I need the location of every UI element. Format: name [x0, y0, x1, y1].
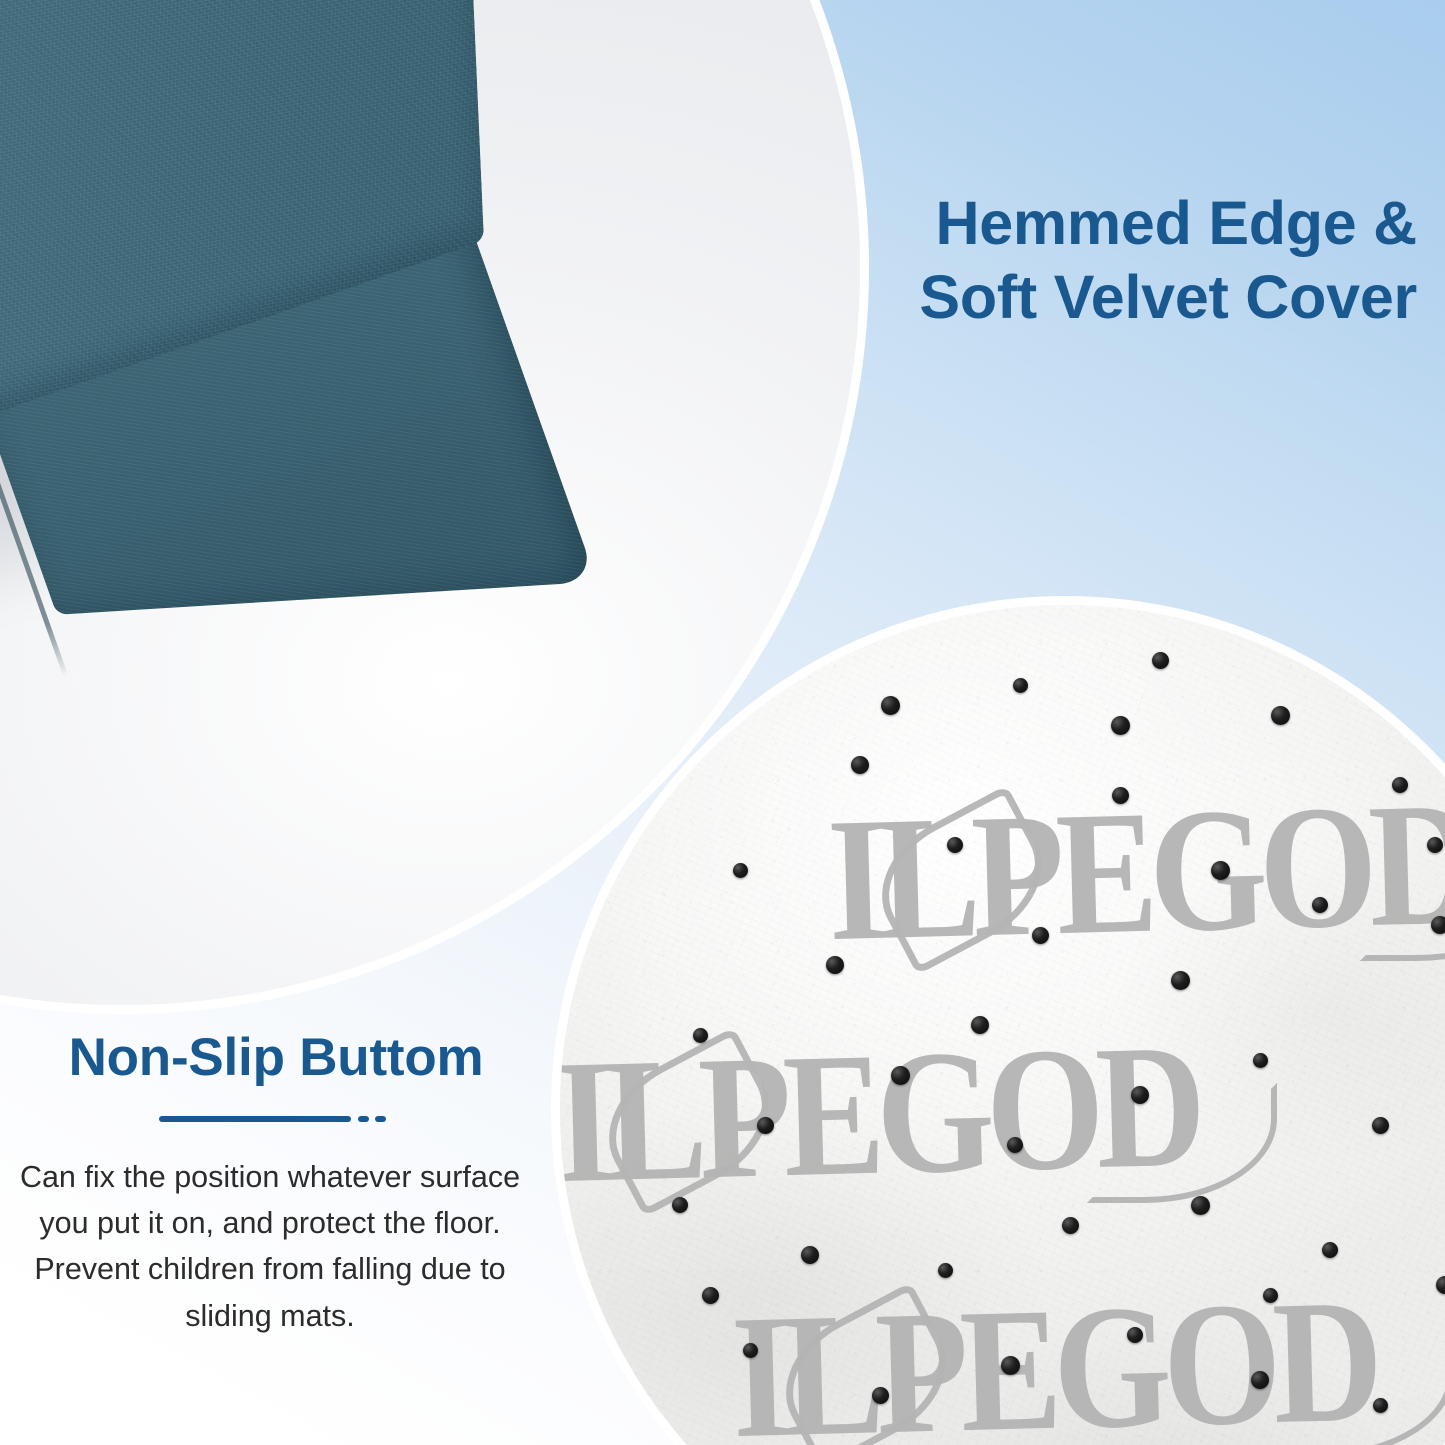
grip-dot [702, 1287, 719, 1304]
grip-dot [1271, 706, 1290, 725]
grip-dot [826, 956, 844, 974]
grip-dot [1191, 1196, 1210, 1215]
grip-dot [851, 756, 869, 774]
grip-dot [1427, 837, 1443, 853]
grip-dot [1112, 787, 1129, 804]
grip-dot [1373, 1398, 1388, 1413]
infographic-canvas: ILPEGOD ILPEGOD ILPEGOD Hemmed Edge & So… [0, 0, 1445, 1445]
grip-dot [1111, 716, 1130, 735]
bottom-feature-headline: Non-Slip Buttom [0, 1026, 540, 1090]
grip-dot [1253, 1053, 1268, 1068]
headline-divider [145, 1116, 395, 1123]
grip-dot [1392, 777, 1408, 793]
grip-dot [1152, 652, 1169, 669]
top-feature-headline: Hemmed Edge & Soft Velvet Cover [797, 186, 1417, 335]
grip-dot [938, 1263, 953, 1278]
grip-dot [672, 1197, 688, 1213]
grip-dot [1322, 1242, 1338, 1258]
grip-dot [1263, 1288, 1278, 1303]
watermark-tail-icon [1360, 841, 1445, 961]
grip-dot [947, 837, 963, 853]
grip-dot [1127, 1327, 1143, 1343]
watermark-tail-icon [1264, 1338, 1445, 1445]
bottom-feature-block: Non-Slip Buttom Can fix the position wha… [0, 1026, 540, 1339]
grip-dot [693, 1028, 708, 1043]
grip-dot [1032, 927, 1049, 944]
grip-dot [881, 696, 900, 715]
grip-dot [872, 1387, 889, 1404]
grip-dot [1013, 678, 1028, 693]
grip-dot [891, 1066, 910, 1085]
grip-dot [1131, 1086, 1149, 1104]
grip-dot [743, 1343, 758, 1358]
grip-dot [801, 1246, 819, 1264]
headline-line-2: Soft Velvet Cover [797, 260, 1417, 334]
grip-dot [1001, 1356, 1020, 1375]
grip-dot [1171, 971, 1190, 990]
grip-dot [971, 1016, 989, 1034]
grip-dot [1312, 897, 1328, 913]
headline-line-1: Hemmed Edge & [797, 186, 1417, 260]
bottom-feature-body: Can fix the position whatever surface yo… [0, 1154, 540, 1339]
divider-bar [159, 1116, 351, 1122]
grip-dot [1431, 916, 1445, 934]
grip-dot [1062, 1217, 1079, 1234]
grip-dot [1372, 1117, 1389, 1134]
divider-dash-1 [358, 1116, 369, 1122]
non-slip-mat-photo: ILPEGOD ILPEGOD ILPEGOD [560, 605, 1445, 1445]
grip-dot [733, 863, 748, 878]
grip-dot [1211, 861, 1230, 880]
divider-dash-2 [375, 1116, 386, 1122]
grip-dot [1007, 1137, 1023, 1153]
grip-dot [757, 1117, 774, 1134]
grip-dot [1251, 1371, 1269, 1389]
